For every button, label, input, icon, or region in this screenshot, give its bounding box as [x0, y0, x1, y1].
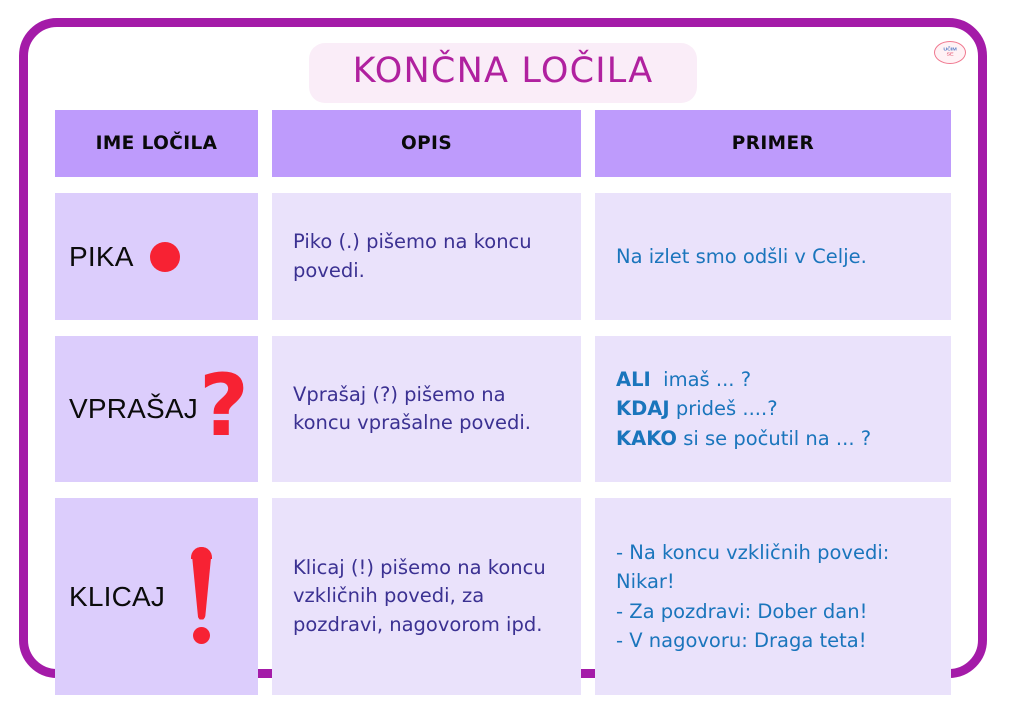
- name-with-mark-vprasaj: VPRAŠAJ ?: [69, 384, 244, 433]
- example-line: - V nagovoru: Draga teta!: [616, 626, 930, 655]
- table-row: PIKA Piko (.) pišemo na koncu povedi. Na…: [55, 193, 951, 320]
- example-keyword: ALI: [616, 368, 651, 391]
- exclamation-bar-top: [191, 547, 212, 559]
- header-label-example: PRIMER: [732, 133, 814, 154]
- header-cell-description: OPIS: [272, 110, 581, 177]
- header-cell-example: PRIMER: [595, 110, 951, 177]
- table-header-row: IME LOČILA OPIS PRIMER: [55, 110, 951, 177]
- example-keyword: KDAJ: [616, 397, 670, 420]
- poster-frame: UČIM SE KONČNA LOČILA IME LOČILA OPIS PR…: [19, 18, 987, 678]
- header-cell-name: IME LOČILA: [55, 110, 258, 177]
- name-with-mark-klicaj: KLICAJ: [69, 547, 244, 647]
- cell-description-vprasaj: Vprašaj (?) pišemo na koncu vprašalne po…: [272, 336, 581, 482]
- table-row: VPRAŠAJ ? Vprašaj (?) pišemo na koncu vp…: [55, 336, 951, 482]
- cell-description-klicaj: Klicaj (!) pišemo na koncu vzkličnih pov…: [272, 498, 581, 695]
- example-text: Na izlet smo odšli v Celje.: [616, 242, 930, 271]
- header-label-name: IME LOČILA: [96, 133, 218, 154]
- exclamation-dot: [193, 627, 210, 644]
- period-dot-icon: [150, 242, 180, 272]
- example-rest: prideš ....?: [670, 397, 778, 420]
- example-line: Na izlet smo odšli v Celje.: [616, 242, 930, 271]
- example-line: - Za pozdravi: Dober dan!: [616, 597, 930, 626]
- cell-description-pika: Piko (.) pišemo na koncu povedi.: [272, 193, 581, 320]
- table-row: KLICAJ Klicaj (!) pišemo na koncu vzklič…: [55, 498, 951, 695]
- cell-example-klicaj: - Na koncu vzkličnih povedi: Nikar! - Za…: [595, 498, 951, 695]
- punctuation-name-label: VPRAŠAJ: [69, 393, 198, 425]
- example-keyword: KAKO: [616, 427, 677, 450]
- name-with-mark-pika: PIKA: [69, 241, 244, 273]
- description-text: Klicaj (!) pišemo na koncu vzkličnih pov…: [293, 554, 560, 639]
- cell-name-vprasaj: VPRAŠAJ ?: [55, 336, 258, 482]
- example-rest: imaš ... ?: [651, 368, 751, 391]
- example-line: KAKO si se počutil na ... ?: [616, 424, 930, 453]
- page-title: KONČNA LOČILA: [309, 43, 698, 103]
- example-line: KDAJ prideš ....?: [616, 394, 930, 423]
- description-text: Vprašaj (?) pišemo na koncu vprašalne po…: [293, 381, 560, 438]
- example-rest: si se počutil na ... ?: [677, 427, 871, 450]
- cell-name-klicaj: KLICAJ: [55, 498, 258, 695]
- punctuation-name-label: KLICAJ: [69, 581, 165, 613]
- exclamation-mark-icon: [179, 547, 225, 647]
- question-mark-icon: ?: [199, 380, 249, 433]
- cell-name-pika: PIKA: [55, 193, 258, 320]
- punctuation-name-label: PIKA: [69, 241, 134, 273]
- example-line: ALI imaš ... ?: [616, 365, 930, 394]
- description-text: Piko (.) pišemo na koncu povedi.: [293, 228, 560, 285]
- punctuation-table: IME LOČILA OPIS PRIMER PIKA Piko (.) piš…: [55, 110, 951, 695]
- example-line: - Na koncu vzkličnih povedi: Nikar!: [616, 538, 930, 597]
- cell-example-vprasaj: ALI imaš ... ? KDAJ prideš ....? KAKO si…: [595, 336, 951, 482]
- example-text: ALI imaš ... ? KDAJ prideš ....? KAKO si…: [616, 365, 930, 453]
- cell-example-pika: Na izlet smo odšli v Celje.: [595, 193, 951, 320]
- title-area: KONČNA LOČILA: [28, 43, 978, 103]
- header-label-description: OPIS: [401, 133, 452, 154]
- example-text: - Na koncu vzkličnih povedi: Nikar! - Za…: [616, 538, 930, 655]
